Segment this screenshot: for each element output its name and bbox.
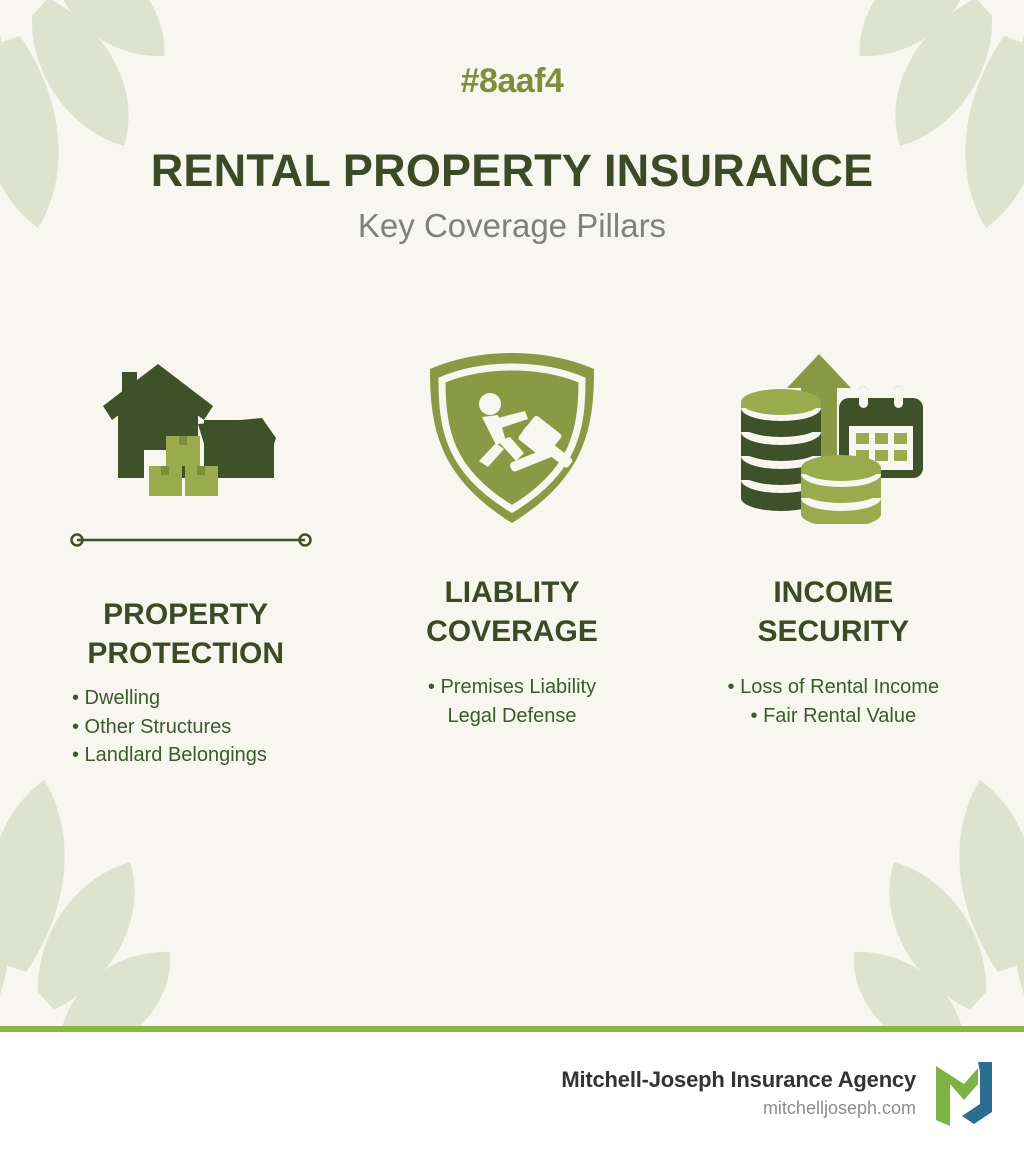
leaf-decoration-top-left bbox=[0, 0, 258, 240]
list-item: • Landlard Belongings bbox=[72, 741, 351, 770]
hashtag-label: #8aaf4 bbox=[0, 62, 1024, 101]
list-item: • Dwelling bbox=[72, 684, 351, 713]
coins-arrow-calendar-icon bbox=[673, 350, 994, 525]
page-title: RENTAL PROPERTY INSURANCE bbox=[0, 145, 1024, 197]
pillar-income-security: INCOME SECURITY • Loss of Rental Income … bbox=[673, 350, 994, 730]
leaf-decoration-bottom-left bbox=[0, 768, 264, 1026]
house-with-boxes-icon bbox=[30, 350, 351, 525]
pillar-title: PROPERTY PROTECTION bbox=[30, 595, 351, 673]
list-item: • Fair Rental Value bbox=[673, 702, 994, 731]
mj-monogram-logo bbox=[934, 1060, 994, 1126]
poster-canvas: #8aaf4 RENTAL PROPERTY INSURANCE Key Cov… bbox=[0, 0, 1024, 1026]
footer: Mitchell-Joseph Insurance Agency mitchel… bbox=[0, 1032, 1024, 1154]
footer-branding: Mitchell-Joseph Insurance Agency mitchel… bbox=[561, 1060, 994, 1126]
brand-name: Mitchell-Joseph Insurance Agency bbox=[561, 1067, 916, 1093]
list-item: Legal Defense bbox=[351, 702, 672, 731]
pillar-title: INCOME SECURITY bbox=[673, 573, 994, 651]
brand-url[interactable]: mitchelljoseph.com bbox=[561, 1098, 916, 1119]
page-subtitle: Key Coverage Pillars bbox=[0, 207, 1024, 245]
pillar-underline-rule bbox=[69, 533, 313, 547]
pillar-item-list: • Loss of Rental Income • Fair Rental Va… bbox=[673, 673, 994, 730]
pillars-row: PROPERTY PROTECTION • Dwelling • Other S… bbox=[30, 350, 994, 770]
infographic-poster: #8aaf4 RENTAL PROPERTY INSURANCE Key Cov… bbox=[0, 0, 1024, 1154]
pillar-item-list: • Dwelling • Other Structures • Landlard… bbox=[30, 684, 351, 770]
pillar-property-protection: PROPERTY PROTECTION • Dwelling • Other S… bbox=[30, 350, 351, 770]
shield-slip-and-fall-gavel-icon bbox=[351, 350, 672, 525]
list-item: • Premises Liability bbox=[351, 673, 672, 702]
pillar-liability-coverage: LIABLITY COVERAGE • Premises Liability L… bbox=[351, 350, 672, 730]
pillar-title: LIABLITY COVERAGE bbox=[351, 573, 672, 651]
pillar-item-list: • Premises Liability Legal Defense bbox=[351, 673, 672, 730]
leaf-decoration-top-right bbox=[766, 0, 1024, 240]
footer-text-block: Mitchell-Joseph Insurance Agency mitchel… bbox=[561, 1067, 916, 1119]
leaf-decoration-bottom-right bbox=[760, 768, 1024, 1026]
list-item: • Other Structures bbox=[72, 713, 351, 742]
list-item: • Loss of Rental Income bbox=[673, 673, 994, 702]
